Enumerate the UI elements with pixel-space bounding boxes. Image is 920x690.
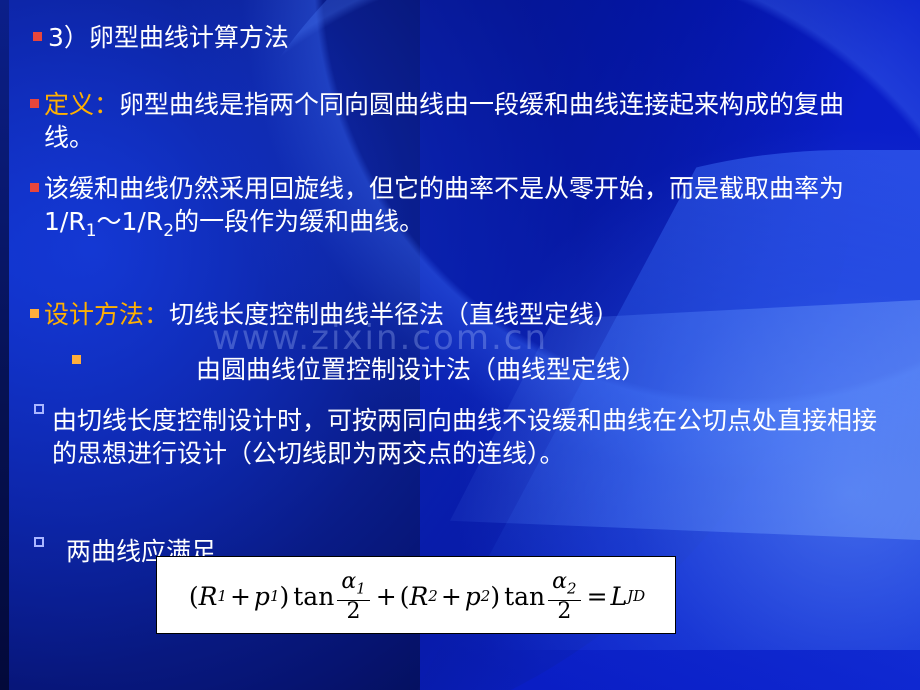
formula-R1-sub: 1 bbox=[217, 587, 227, 605]
formula-expression: (R1+p1)tanα12+(R2+p2)tanα22=LJD bbox=[157, 557, 677, 635]
formula-fraction-1-denominator: 2 bbox=[337, 600, 369, 623]
definition-text: 卵型曲线是指两个同向圆曲线由一段缓和曲线连接起来构成的复曲线。 bbox=[44, 90, 844, 152]
formula-L: L bbox=[611, 582, 628, 611]
formula-alpha2-sub: 2 bbox=[567, 580, 577, 598]
formula-close-paren-2: ) bbox=[490, 582, 500, 611]
bullet-red-square-title bbox=[33, 32, 42, 41]
bullet-hollow-square-condition bbox=[34, 537, 44, 547]
formula-plus-2: + bbox=[441, 582, 462, 611]
formula-alpha2-numerator: α2 bbox=[548, 571, 580, 599]
formula-fraction-2: α22 bbox=[548, 571, 580, 622]
slide-title: 3）卵型曲线计算方法 bbox=[48, 21, 748, 54]
design-method-paragraph: 设计方法：切线长度控制曲线半径法（直线型定线） bbox=[44, 298, 894, 331]
spiral-note-paragraph: 该缓和曲线仍然采用回旋线，但它的曲率不是从零开始，而是截取曲率为1/R1～1/R… bbox=[44, 172, 894, 248]
spiral-note-part3: 的一段作为缓和曲线。 bbox=[174, 207, 424, 236]
tangent-control-paragraph: 由切线长度控制设计时，可按两同向曲线不设缓和曲线在公切点处直接相接的思想进行设计… bbox=[52, 404, 892, 470]
formula-open-paren-1: ( bbox=[189, 582, 199, 611]
bullet-red-square-definition bbox=[30, 99, 39, 108]
formula-tan-2: tan bbox=[504, 582, 545, 611]
formula-alpha1-numerator: α1 bbox=[337, 571, 369, 599]
formula-equals: = bbox=[587, 582, 608, 611]
definition-paragraph: 定义：卵型曲线是指两个同向圆曲线由一段缓和曲线连接起来构成的复曲线。 bbox=[44, 88, 884, 154]
formula-open-paren-2: ( bbox=[400, 582, 410, 611]
design-method-text: 切线长度控制曲线半径法（直线型定线） bbox=[169, 300, 619, 329]
formula-R2: R bbox=[409, 582, 428, 611]
formula-close-paren-1: ) bbox=[279, 582, 289, 611]
bullet-orange-square-design-method bbox=[30, 309, 39, 318]
formula-fraction-1: α12 bbox=[337, 571, 369, 622]
formula-plus-1: + bbox=[230, 582, 251, 611]
formula-p2-sub: 2 bbox=[481, 587, 491, 605]
design-method-label: 设计方法： bbox=[44, 300, 169, 329]
formula-alpha1: α bbox=[341, 569, 356, 594]
spiral-note-part2: ～1/R bbox=[97, 207, 164, 236]
design-method-2-text: 由圆曲线位置控制设计法（曲线型定线） bbox=[196, 353, 896, 386]
formula-p1: p bbox=[254, 582, 270, 611]
formula-tan-1: tan bbox=[293, 582, 334, 611]
formula-box: (R1+p1)tanα12+(R2+p2)tanα22=LJD bbox=[156, 556, 676, 634]
formula-alpha2: α bbox=[552, 569, 567, 594]
formula-fraction-2-denominator: 2 bbox=[548, 600, 580, 623]
bullet-orange-square-design-method-2 bbox=[72, 355, 81, 364]
spiral-note-sub1: 1 bbox=[86, 221, 97, 241]
spiral-note-sub2: 2 bbox=[163, 221, 174, 241]
bullet-hollow-square-tangent bbox=[34, 404, 44, 414]
bullet-red-square-spiral bbox=[30, 183, 39, 192]
formula-L-sub: JD bbox=[627, 587, 645, 605]
formula-plus-middle: + bbox=[376, 582, 397, 611]
formula-alpha1-sub: 1 bbox=[356, 580, 366, 598]
formula-R1: R bbox=[199, 582, 218, 611]
definition-label: 定义： bbox=[44, 90, 119, 119]
formula-R2-sub: 2 bbox=[428, 587, 438, 605]
formula-p1-sub: 1 bbox=[270, 587, 280, 605]
slide-content: 3）卵型曲线计算方法 定义：卵型曲线是指两个同向圆曲线由一段缓和曲线连接起来构成… bbox=[0, 0, 920, 690]
formula-p2: p bbox=[465, 582, 481, 611]
slide-canvas: www.zixin.com.cn 3）卵型曲线计算方法 定义：卵型曲线是指两个同… bbox=[0, 0, 920, 690]
